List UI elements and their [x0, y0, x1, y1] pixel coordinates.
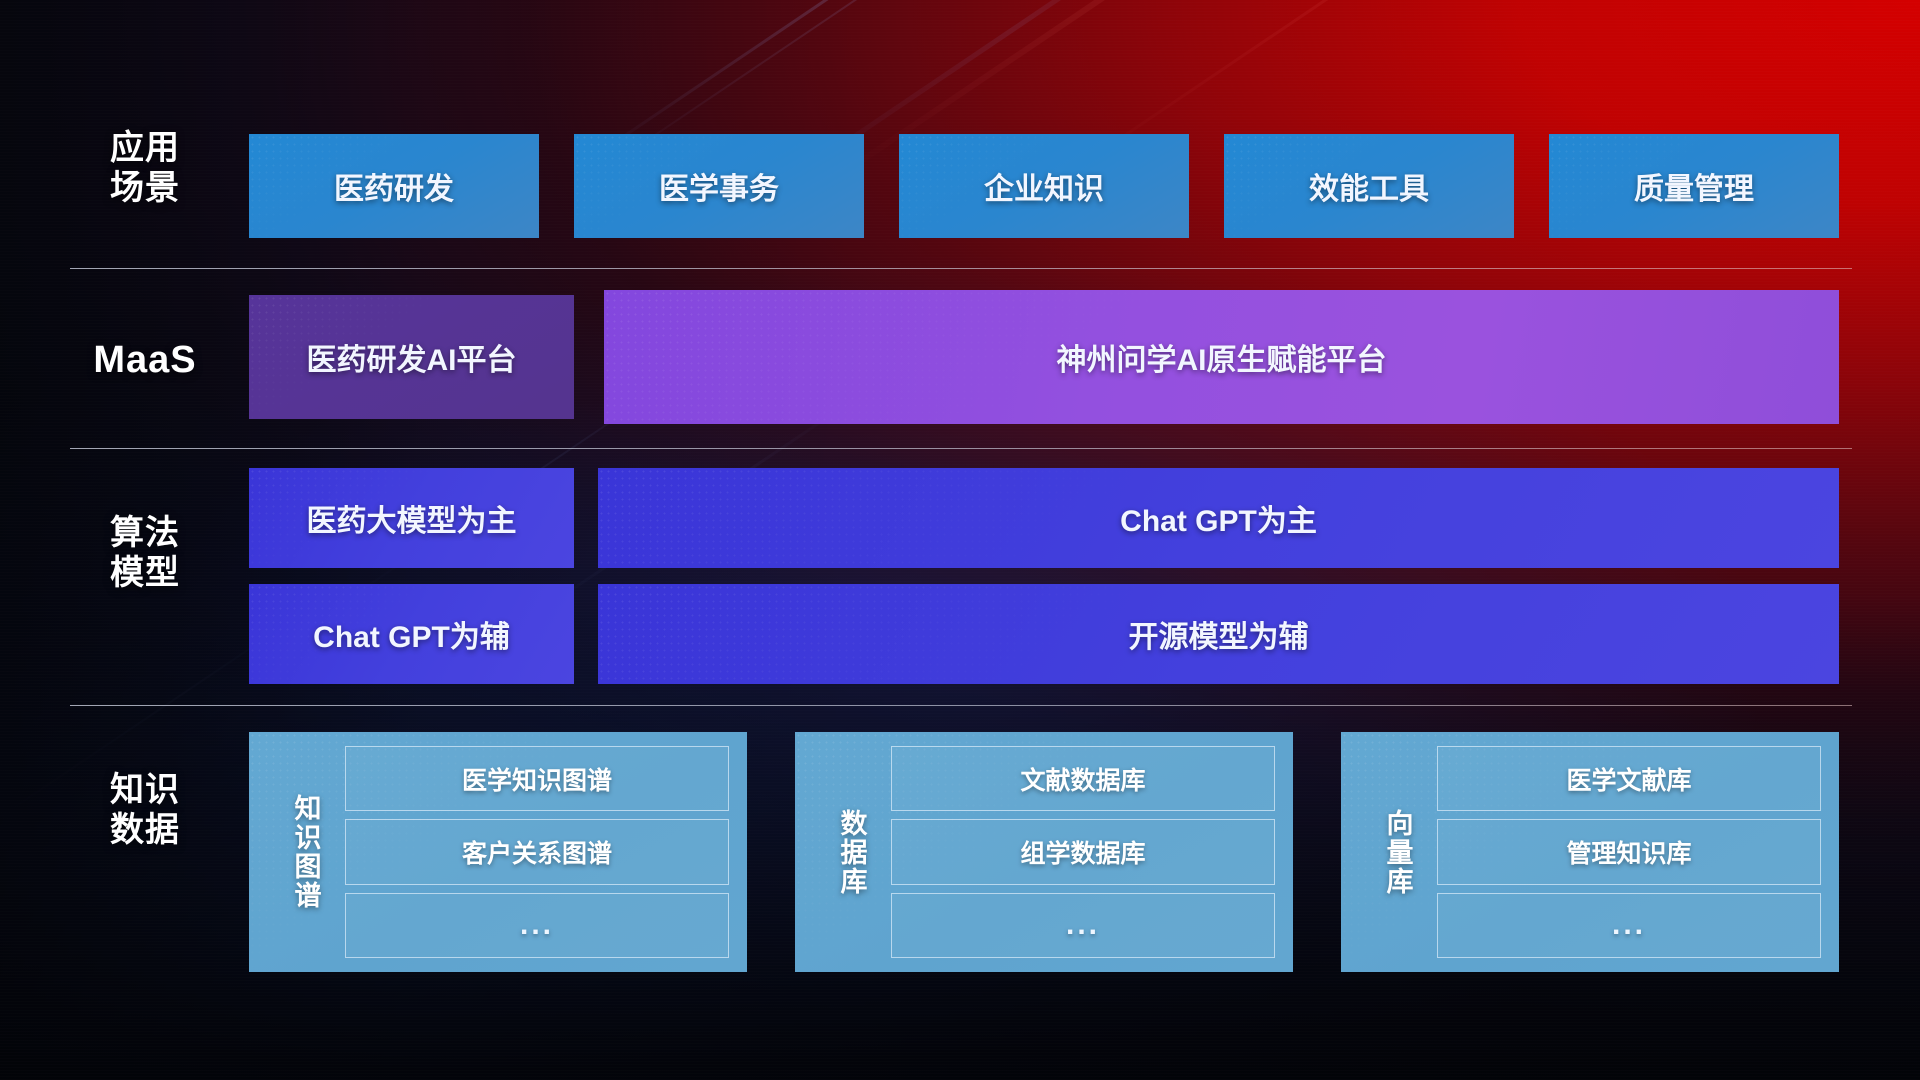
algo-box-pharma-llm-primary[interactable]: 医药大模型为主: [249, 468, 574, 568]
knowledge-panel-vector-store-items: 医学文献库 管理知识库 ...: [1437, 742, 1827, 962]
app-box-1[interactable]: 医药研发: [249, 134, 539, 238]
divider-1: [70, 268, 1852, 269]
knowledge-item-more[interactable]: ...: [891, 893, 1275, 958]
algo-box-opensource-secondary[interactable]: 开源模型为辅: [598, 584, 1839, 684]
knowledge-panel-vector-store[interactable]: 向量库 医学文献库 管理知识库 ...: [1341, 732, 1839, 972]
knowledge-item-more[interactable]: ...: [1437, 893, 1821, 958]
algo-box-chatgpt-secondary-label: Chat GPT为辅: [313, 612, 510, 656]
app-box-4-label: 效能工具: [1309, 164, 1429, 208]
architecture-diagram: 应用 场景 医药研发 医学事务 企业知识 效能工具 质量管理 MaaS 医药研发…: [0, 0, 1920, 1080]
knowledge-item[interactable]: 医学文献库: [1437, 746, 1821, 811]
algo-box-chatgpt-primary[interactable]: Chat GPT为主: [598, 468, 1839, 568]
knowledge-panel-database-label: 数据库: [819, 742, 883, 962]
maas-box-pharma-platform[interactable]: 医药研发AI平台: [249, 295, 574, 419]
app-box-3-label: 企业知识: [984, 164, 1104, 208]
knowledge-panel-database[interactable]: 数据库 文献数据库 组学数据库 ...: [795, 732, 1293, 972]
algo-box-chatgpt-secondary[interactable]: Chat GPT为辅: [249, 584, 574, 684]
row-label-algorithm: 算法 模型: [70, 513, 220, 593]
app-box-5[interactable]: 质量管理: [1549, 134, 1839, 238]
knowledge-item[interactable]: 客户关系图谱: [345, 819, 729, 884]
row-label-application: 应用 场景: [70, 128, 220, 208]
maas-box-shenzhou-platform-label: 神州问学AI原生赋能平台: [1057, 335, 1387, 379]
knowledge-panel-database-items: 文献数据库 组学数据库 ...: [891, 742, 1281, 962]
knowledge-panel-vector-store-label: 向量库: [1365, 742, 1429, 962]
app-box-2[interactable]: 医学事务: [574, 134, 864, 238]
knowledge-item[interactable]: 管理知识库: [1437, 819, 1821, 884]
knowledge-panel-knowledge-graph[interactable]: 知识图谱 医学知识图谱 客户关系图谱 ...: [249, 732, 747, 972]
maas-box-pharma-platform-label: 医药研发AI平台: [307, 335, 517, 379]
app-box-3[interactable]: 企业知识: [899, 134, 1189, 238]
app-box-4[interactable]: 效能工具: [1224, 134, 1514, 238]
divider-2: [70, 448, 1852, 449]
knowledge-item[interactable]: 文献数据库: [891, 746, 1275, 811]
knowledge-item[interactable]: 组学数据库: [891, 819, 1275, 884]
knowledge-panel-knowledge-graph-items: 医学知识图谱 客户关系图谱 ...: [345, 742, 735, 962]
app-box-1-label: 医药研发: [334, 164, 454, 208]
row-label-maas: MaaS: [70, 338, 220, 383]
algo-box-opensource-secondary-label: 开源模型为辅: [1129, 612, 1309, 656]
knowledge-panel-knowledge-graph-label: 知识图谱: [273, 742, 337, 962]
app-box-5-label: 质量管理: [1634, 164, 1754, 208]
maas-box-shenzhou-platform[interactable]: 神州问学AI原生赋能平台: [604, 290, 1839, 424]
divider-3: [70, 705, 1852, 706]
algo-box-pharma-llm-primary-label: 医药大模型为主: [307, 496, 517, 540]
knowledge-item-more[interactable]: ...: [345, 893, 729, 958]
row-label-knowledge: 知识 数据: [70, 770, 220, 850]
algo-box-chatgpt-primary-label: Chat GPT为主: [1120, 496, 1317, 540]
knowledge-item[interactable]: 医学知识图谱: [345, 746, 729, 811]
app-box-2-label: 医学事务: [659, 164, 779, 208]
